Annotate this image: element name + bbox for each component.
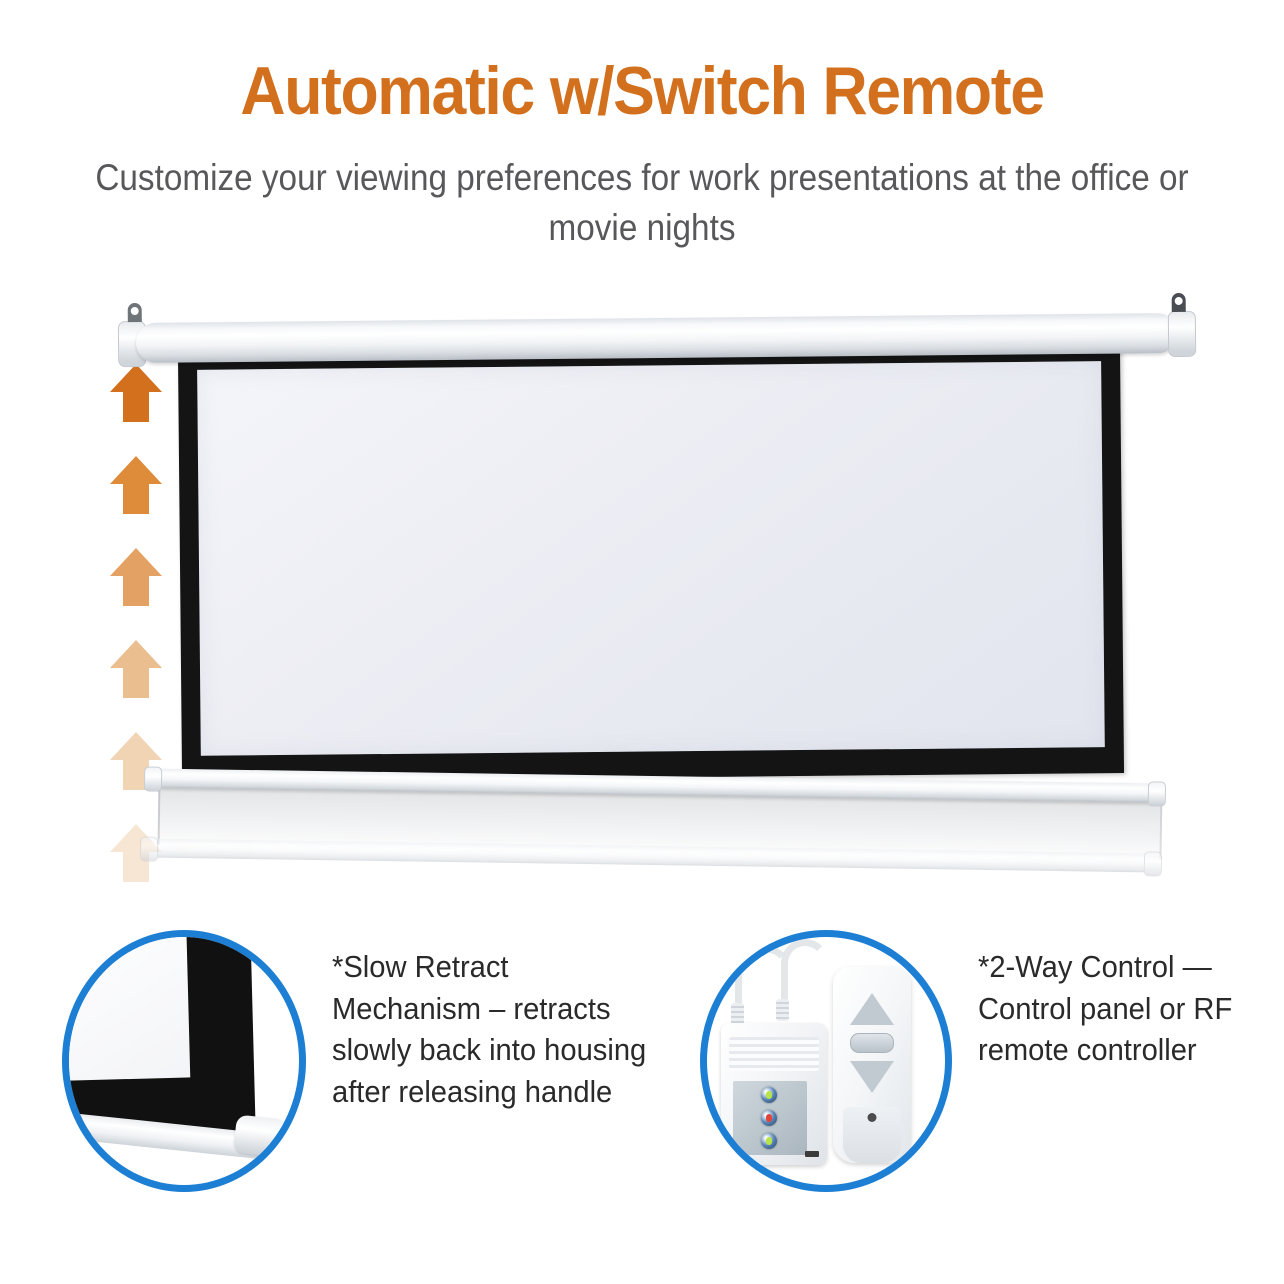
projection-screen <box>178 347 1124 782</box>
screen-surface-corner <box>62 930 198 1084</box>
callout-two-way-control-text: *2-Way Control —Control panel or RF remo… <box>978 930 1266 1071</box>
control-panel-up-indicator <box>761 1087 777 1103</box>
bar-end-cap-right <box>1148 781 1166 806</box>
control-panel-stop-indicator <box>761 1110 777 1126</box>
remote-down-button-icon <box>850 1061 894 1093</box>
control-panel-and-rf-remote-photo <box>700 930 952 1192</box>
feature-callouts: *Slow Retract Mechanism – retracts slowl… <box>0 930 1284 1230</box>
remote-up-button-icon <box>850 993 894 1025</box>
infographic-page: Automatic w/Switch Remote Customize your… <box>0 0 1284 1284</box>
control-panel-faceplate <box>733 1081 807 1155</box>
product-photo <box>0 290 1284 910</box>
bar-end-cap-left <box>144 766 162 791</box>
retract-arrow-1 <box>108 362 164 424</box>
screen-corner-with-handle-photo <box>62 930 306 1192</box>
remote-stop-button-icon <box>850 1033 894 1053</box>
callout-slow-retract: *Slow Retract Mechanism – retracts slowl… <box>62 930 672 1192</box>
wall-control-panel <box>721 1023 827 1165</box>
projection-surface <box>197 361 1105 756</box>
rf-remote-controller <box>833 967 911 1163</box>
page-subtitle: Customize your viewing preferences for w… <box>64 153 1220 251</box>
callout-slow-retract-text: *Slow Retract Mechanism – retracts slowl… <box>332 930 652 1112</box>
control-panel-vents <box>729 1037 819 1071</box>
housing-tube <box>136 313 1178 363</box>
retract-arrow-4 <box>108 638 164 700</box>
pull-handle-grip <box>233 1114 287 1157</box>
control-panel-chip <box>805 1151 819 1157</box>
bar-end-cap-left <box>140 836 158 861</box>
mounting-bracket-left-icon <box>122 302 148 324</box>
control-panel-down-indicator <box>761 1133 777 1149</box>
cable-strain-relief-left <box>731 1003 744 1025</box>
remote-led-icon <box>868 1113 877 1122</box>
housing-end-cap-right <box>1168 311 1196 357</box>
page-title: Automatic w/Switch Remote <box>51 56 1232 127</box>
callout-two-way-control: *2-Way Control —Control panel or RF remo… <box>700 930 1284 1192</box>
mounting-bracket-right-icon <box>1166 292 1192 314</box>
retract-arrow-2 <box>108 454 164 516</box>
bar-end-cap-right <box>1144 851 1162 876</box>
retract-arrow-3 <box>108 546 164 608</box>
header: Automatic w/Switch Remote Customize your… <box>0 56 1284 252</box>
cable-strain-relief-right <box>776 999 789 1021</box>
